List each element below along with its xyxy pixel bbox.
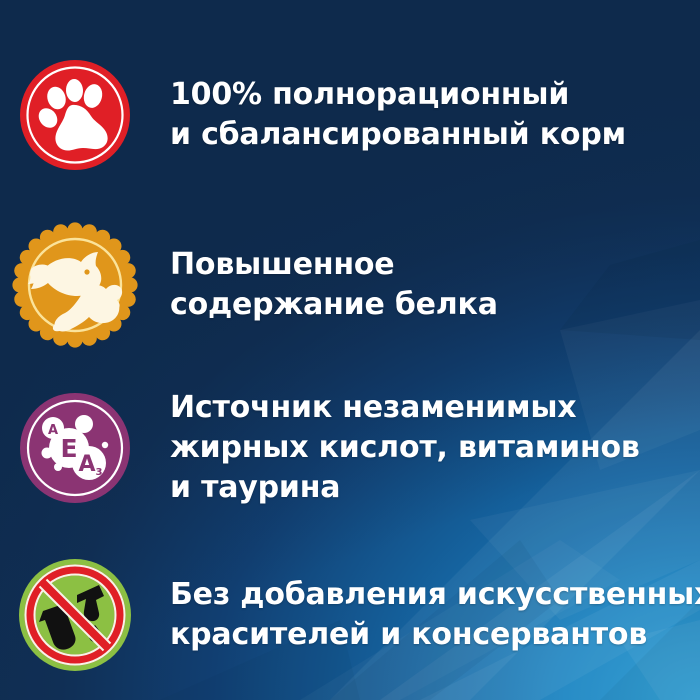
benefit-line: содержание белка xyxy=(170,285,498,325)
benefit-text-high-protein: Повышенное содержание белка xyxy=(150,245,498,325)
benefit-list: 100% полнорационный и сбалансированный к… xyxy=(0,0,700,700)
paw-print-icon xyxy=(0,45,150,185)
benefit-line: жирных кислот, витаминов xyxy=(170,428,640,468)
benefit-text-complete-balanced: 100% полнорационный и сбалансированный к… xyxy=(150,75,626,155)
benefit-line: красителей и консервантов xyxy=(170,615,700,655)
vitamin-label-a-small: A xyxy=(48,423,58,438)
vitamin-label-a-main: A xyxy=(78,452,95,477)
vitamin-bubbles-icon: E A 3 A xyxy=(0,378,150,518)
benefit-line: и таурина xyxy=(170,468,640,508)
benefits-banner: 100% полнорационный и сбалансированный к… xyxy=(0,0,700,700)
benefit-line: и сбалансированный корм xyxy=(170,115,626,155)
benefit-line: Источник незаменимых xyxy=(170,388,640,428)
benefit-item-no-artificial-colors-preservatives: Без добавления искусственных красителей … xyxy=(0,545,700,685)
benefit-item-complete-balanced: 100% полнорационный и сбалансированный к… xyxy=(0,45,700,185)
benefit-item-fatty-acids-vitamins-taurine: E A 3 A Источник незаменимых жирных кисл… xyxy=(0,375,700,520)
benefit-line: Без добавления искусственных xyxy=(170,575,700,615)
benefit-text-fatty-acids-vitamins-taurine: Источник незаменимых жирных кислот, вита… xyxy=(150,388,640,508)
benefit-item-high-protein: Повышенное содержание белка xyxy=(0,215,700,355)
no-chemicals-prohibited-icon xyxy=(0,545,150,685)
benefit-line: Повышенное xyxy=(170,245,498,285)
vitamin-label-e: E xyxy=(60,434,77,463)
benefit-line: 100% полнорационный xyxy=(170,75,626,115)
fish-and-drumstick-icon xyxy=(0,215,150,355)
benefit-text-no-artificial-colors-preservatives: Без добавления искусственных красителей … xyxy=(150,575,700,655)
vitamin-label-a-subscript: 3 xyxy=(96,467,103,478)
